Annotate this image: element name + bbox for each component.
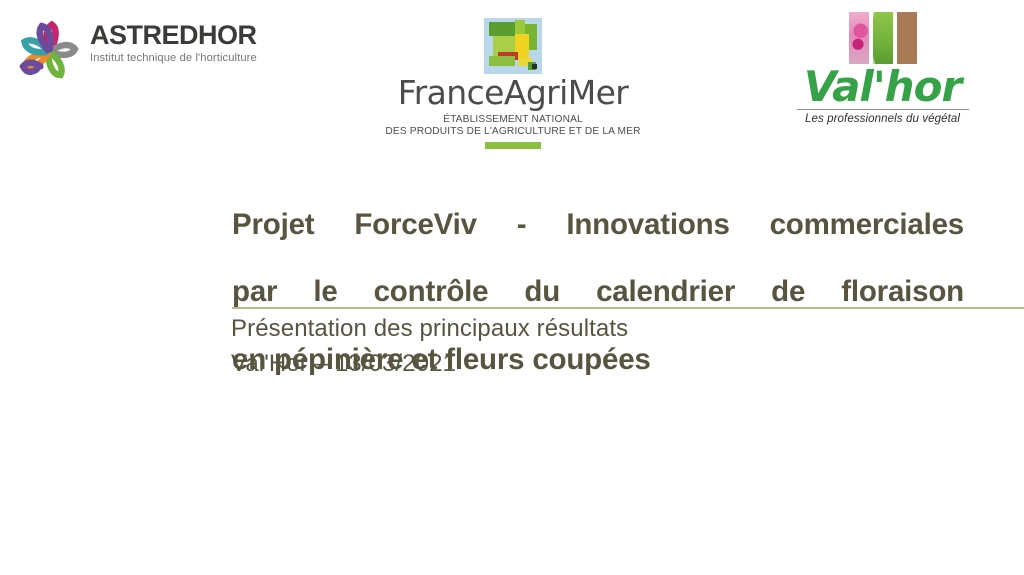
- franceagrimer-subtitle-line2: DES PRODUITS DE L'AGRICULTURE ET DE LA M…: [382, 126, 644, 138]
- title-line-1: Projet ForceViv - Innovations commercial…: [232, 208, 964, 275]
- valhor-photo-strips: [790, 12, 975, 64]
- franceagrimer-mosaic-icon: [484, 18, 542, 74]
- title-slide: ASTREDHOR Institut technique de l'hortic…: [0, 0, 1024, 575]
- title-divider: [232, 307, 1024, 309]
- partner-logo-band: ASTREDHOR Institut technique de l'hortic…: [0, 0, 1024, 165]
- subtitle-block: Présentation des principaux résultats Va…: [231, 312, 971, 382]
- franceagrimer-logo: FranceAgriMer ÉTABLISSEMENT NATIONAL DES…: [382, 18, 644, 149]
- franceagrimer-name: FranceAgriMer: [382, 76, 644, 111]
- valhor-tagline: Les professionnels du végétal: [790, 113, 975, 125]
- franceagrimer-subtitle-line1: ÉTABLISSEMENT NATIONAL: [382, 114, 644, 126]
- franceagrimer-green-bar: [485, 142, 541, 149]
- valhor-strip-flower-icon: [849, 12, 869, 64]
- astredhor-flower-icon: [12, 16, 86, 88]
- astredhor-tagline: Institut technique de l'horticulture: [90, 52, 290, 64]
- subtitle-line-2: Val'Hor – 13/03/2021: [231, 347, 971, 382]
- valhor-logo: Val'hor Les professionnels du végétal: [790, 12, 975, 125]
- astredhor-logo: ASTREDHOR Institut technique de l'hortic…: [12, 14, 292, 84]
- astredhor-name: ASTREDHOR: [90, 22, 290, 49]
- valhor-strip-bark-icon: [897, 12, 917, 64]
- valhor-name: Val'hor: [790, 66, 975, 107]
- valhor-strip-foliage-icon: [873, 12, 893, 64]
- subtitle-line-1: Présentation des principaux résultats: [231, 312, 971, 347]
